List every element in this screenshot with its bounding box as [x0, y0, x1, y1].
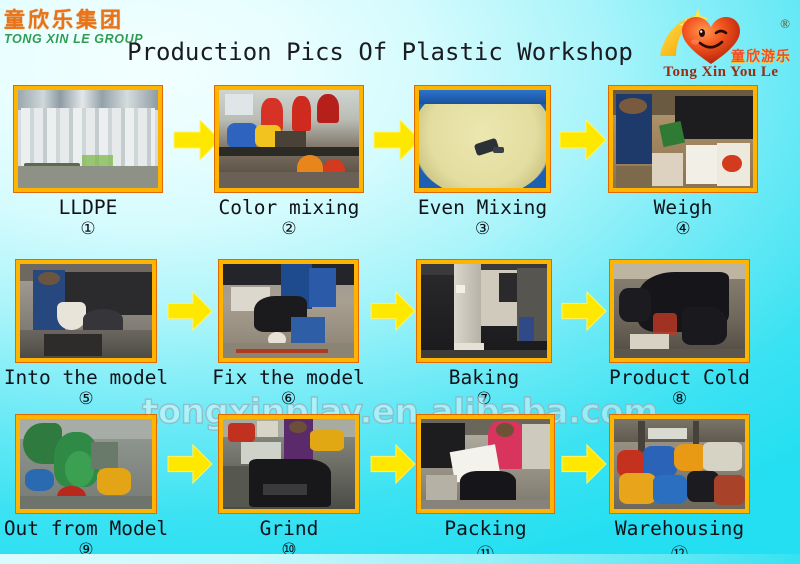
flow-arrow-6	[560, 290, 608, 332]
step-photo	[417, 260, 551, 362]
step-label: Fix the model	[205, 366, 372, 389]
flow-arrow-7	[166, 443, 214, 485]
step-photo	[219, 415, 359, 513]
step-photo	[16, 415, 156, 513]
step-photo	[415, 86, 550, 192]
step-photo	[14, 86, 162, 192]
step-number: ①	[14, 219, 162, 239]
photo-baking-oven	[421, 264, 547, 358]
step-number: ⑦	[417, 389, 551, 409]
photo-warehousing	[614, 419, 745, 509]
step-photo	[610, 260, 749, 362]
photo-even-mixing-drum	[419, 90, 546, 188]
bottom-gradient-strip	[0, 554, 800, 564]
photo-weighing-bags	[613, 90, 753, 188]
step-photo	[219, 260, 358, 362]
step-number: ②	[215, 219, 363, 239]
step-photo	[417, 415, 554, 513]
photo-grinding	[223, 419, 355, 509]
step-photo	[610, 415, 749, 513]
step-number: ④	[609, 219, 757, 239]
step-number: ③	[415, 219, 550, 239]
flow-arrow-4	[166, 290, 214, 332]
registered-trademark-mark: ®	[780, 16, 790, 32]
flow-arrow-5	[369, 290, 417, 332]
step-label: Product Cold	[596, 366, 763, 389]
step-label: Color mixing	[197, 196, 381, 219]
logo-brand-chinese: 童欣游乐	[731, 46, 791, 66]
step-label: Even Mixing	[397, 196, 568, 219]
step-number: ⑥	[219, 389, 358, 409]
photo-lldpe-sacks	[18, 90, 158, 188]
step-photo	[16, 260, 156, 362]
step-label: Grind	[201, 517, 377, 540]
step-label: Weigh	[591, 196, 775, 219]
photo-color-mixing	[219, 90, 359, 188]
step-number: ⑧	[610, 389, 749, 409]
company-logo: ® 童欣游乐 Tong Xin You Le	[646, 2, 796, 82]
step-label: Baking	[399, 366, 569, 389]
brand-name-chinese: 童欣乐集团	[4, 9, 143, 31]
step-label: Warehousing	[594, 517, 765, 540]
photo-fix-the-model	[223, 264, 354, 358]
logo-brand-english: Tong Xin You Le	[646, 64, 796, 81]
photo-into-the-model	[20, 264, 152, 358]
flow-arrow-9	[560, 443, 608, 485]
step-label: LLDPE	[0, 196, 180, 219]
photo-product-cooling	[614, 264, 745, 358]
flow-arrow-3	[558, 118, 608, 162]
step-photo	[609, 86, 757, 192]
step-number: ⑤	[16, 389, 156, 409]
step-label: Into the model	[2, 366, 170, 389]
step-photo	[215, 86, 363, 192]
step-label: Out from Model	[0, 517, 172, 540]
poster-canvas: 童欣乐集团 TONG XIN LE GROUP Production Pics …	[0, 0, 800, 564]
step-label: Packing	[399, 517, 572, 540]
photo-packing	[421, 419, 550, 509]
photo-out-from-model	[20, 419, 152, 509]
flow-arrow-8	[369, 443, 417, 485]
